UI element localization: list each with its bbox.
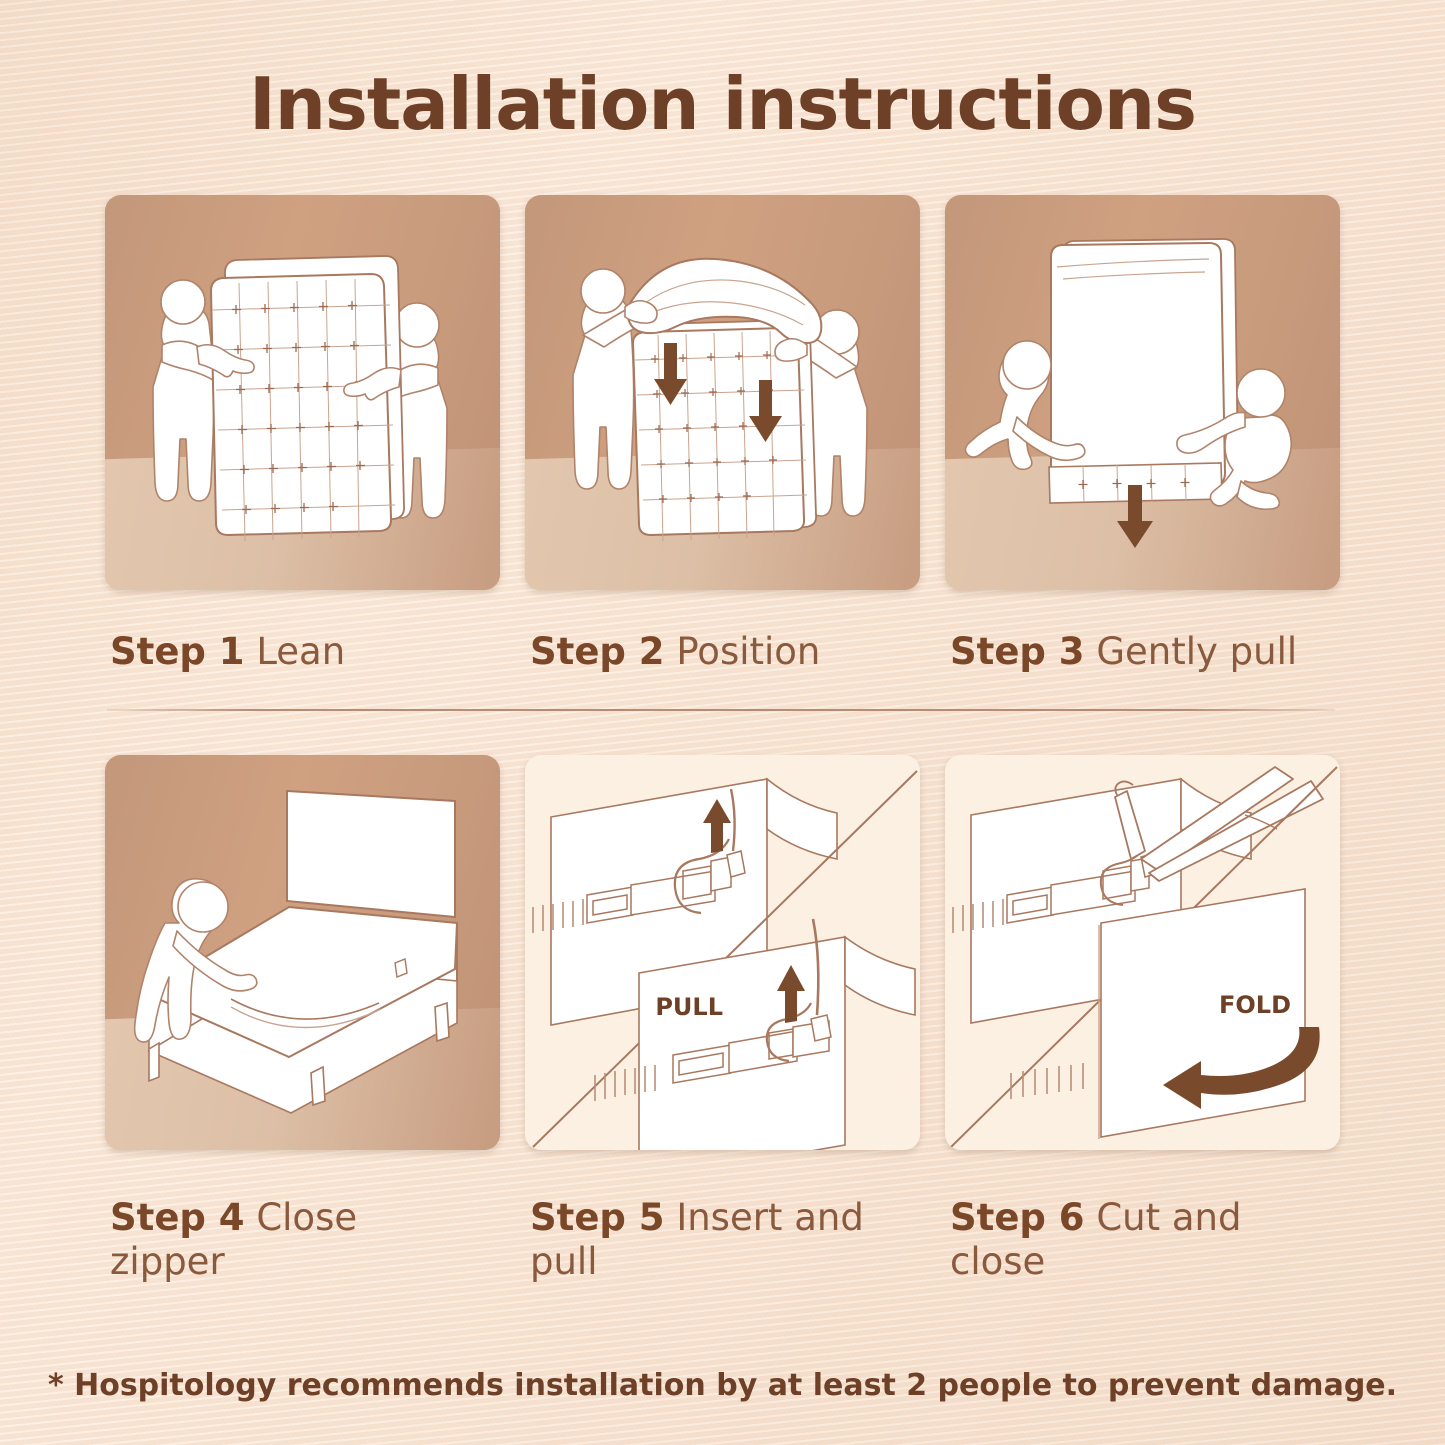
section-divider	[107, 709, 1335, 711]
step-5-number: Step 5	[530, 1196, 665, 1239]
footnote-text: * Hospitology recommends installation by…	[0, 1368, 1445, 1403]
step-1-number: Step 1	[110, 630, 245, 673]
step-4-figure-group	[105, 755, 500, 1150]
zipper-pull	[395, 959, 407, 977]
step-4-illustration	[105, 755, 500, 1150]
zip-tie-head	[811, 1015, 831, 1041]
step-2-number: Step 2	[530, 630, 665, 673]
step-6-caption: Step 6 Cut and close	[950, 1196, 1320, 1283]
infographic-page: Installation instructions	[0, 0, 1445, 1445]
step-2-caption: Step 2 Position	[530, 630, 925, 674]
step-3-figure-group	[945, 195, 1340, 590]
step-3-illustration	[945, 195, 1340, 590]
step-6-number: Step 6	[950, 1196, 1085, 1239]
step-6-illustration: FOLD	[945, 755, 1340, 1150]
step-3-label: Gently pull	[1096, 630, 1297, 673]
zipper-teeth	[1011, 1063, 1083, 1099]
step-1-label: Lean	[256, 630, 345, 673]
step-4-number: Step 4	[110, 1196, 245, 1239]
bed-headboard	[287, 791, 455, 917]
step-5-detail-group: PULL	[525, 755, 920, 1150]
step-2-figure-group	[525, 195, 920, 590]
step-2-label: Position	[676, 630, 820, 673]
pull-annotation-label: PULL	[655, 993, 723, 1021]
step-3-caption: Step 3 Gently pull	[950, 630, 1345, 674]
zip-tie-head	[727, 851, 745, 877]
fold-annotation-label: FOLD	[1219, 991, 1291, 1019]
step-2-illustration	[525, 195, 920, 590]
step-4-caption: Step 4 Close zipper	[110, 1196, 480, 1283]
page-title: Installation instructions	[0, 62, 1445, 146]
step-3-number: Step 3	[950, 630, 1085, 673]
step-1-illustration	[105, 195, 500, 590]
step-5-illustration: PULL	[525, 755, 920, 1150]
step-6-detail-group: FOLD	[945, 755, 1340, 1150]
step-1-caption: Step 1 Lean	[110, 630, 505, 674]
step-5-caption: Step 5 Insert and pull	[530, 1196, 930, 1283]
step-1-figure-group	[105, 195, 500, 590]
